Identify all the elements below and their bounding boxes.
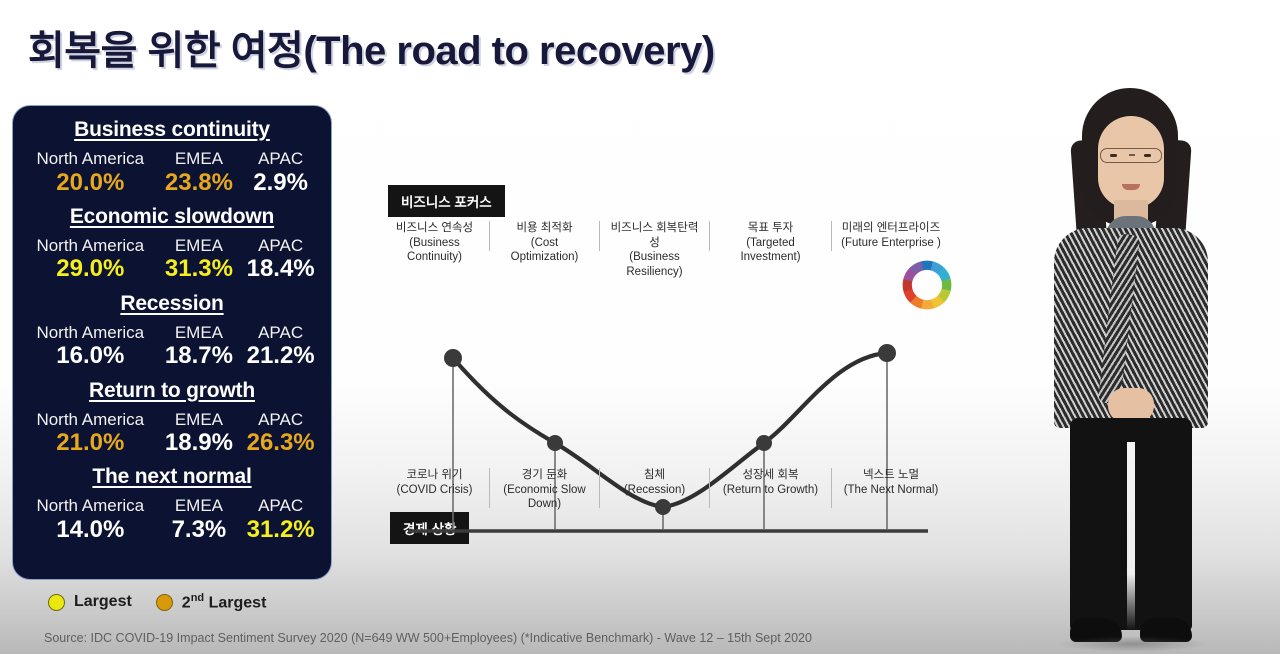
stat-value: 31.2% [240, 516, 321, 544]
bottom-label-covid-crisis: 코로나 위기 (COVID Crisis) [380, 468, 490, 508]
stat-col-emea: EMEA 23.8% [158, 149, 241, 197]
stat-col-apac: APAC 31.2% [240, 496, 321, 544]
stat-value: 14.0% [23, 516, 158, 544]
stat-region-label: APAC [240, 236, 321, 256]
stat-heading: Economic slowdown [23, 205, 321, 229]
data-point-return-to-growth [756, 435, 772, 451]
stat-value: 18.9% [158, 429, 241, 457]
stat-value: 18.7% [158, 342, 241, 370]
stat-col-apac: APAC 26.3% [240, 410, 321, 458]
bottom-label-return-to-growth: 성장세 회복 (Return to Growth) [710, 468, 832, 508]
stat-region-label: North America [23, 410, 158, 430]
stat-row: North America 29.0% EMEA 31.3% APAC 18.4… [23, 236, 321, 284]
source-note: Source: IDC COVID-19 Impact Sentiment Su… [44, 631, 812, 645]
stat-col-north-america: North America 21.0% [23, 410, 158, 458]
stat-region-label: APAC [240, 149, 321, 169]
legend-item-second-largest: 2nd Largest [156, 592, 267, 612]
stat-region-label: EMEA [158, 410, 241, 430]
stat-col-apac: APAC 2.9% [240, 149, 321, 197]
stat-col-north-america: North America 16.0% [23, 323, 158, 371]
stat-block-business-continuity: Business continuity North America 20.0% … [23, 118, 321, 197]
stat-value: 21.2% [240, 342, 321, 370]
stat-value: 7.3% [158, 516, 241, 544]
stat-block-economic-slowdown: Economic slowdown North America 29.0% EM… [23, 205, 321, 284]
legend-label: Largest [74, 593, 132, 611]
top-label-cost-optimization: 비용 최적화 (Cost Optimization) [490, 221, 600, 251]
stat-col-north-america: North America 20.0% [23, 149, 158, 197]
stat-block-recession: Recession North America 16.0% EMEA 18.7%… [23, 292, 321, 371]
stat-heading: Business continuity [23, 118, 321, 142]
stat-region-label: North America [23, 236, 158, 256]
data-point-economic-slowdown [547, 435, 563, 451]
future-enterprise-ring-icon [898, 256, 956, 314]
recovery-curve-chart: 비즈니스 포커스 경제 상황 비즈니스 연속성 (Business Contin… [380, 175, 980, 555]
stat-region-label: North America [23, 496, 158, 516]
presenter-hands [1108, 388, 1154, 422]
stat-region-label: EMEA [158, 323, 241, 343]
glasses-icon [1100, 148, 1162, 163]
presenter-video-overlay [980, 0, 1280, 654]
stat-value: 16.0% [23, 342, 158, 370]
stat-value: 20.0% [23, 169, 158, 197]
stat-value: 21.0% [23, 429, 158, 457]
stat-block-return-to-growth: Return to growth North America 21.0% EME… [23, 379, 321, 458]
stat-value: 29.0% [23, 255, 158, 283]
stat-row: North America 14.0% EMEA 7.3% APAC 31.2% [23, 496, 321, 544]
legend-label: 2nd Largest [182, 592, 267, 612]
stat-block-the-next-normal: The next normal North America 14.0% EMEA… [23, 465, 321, 544]
stat-col-apac: APAC 18.4% [240, 236, 321, 284]
stat-region-label: APAC [240, 410, 321, 430]
stat-heading: Recession [23, 292, 321, 316]
stat-row: North America 21.0% EMEA 18.9% APAC 26.3… [23, 410, 321, 458]
stat-region-label: EMEA [158, 496, 241, 516]
stat-value: 2.9% [240, 169, 321, 197]
stats-panel: Business continuity North America 20.0% … [12, 105, 332, 580]
legend: Largest 2nd Largest [48, 592, 266, 612]
circle-icon [156, 594, 173, 611]
bottom-label-the-next-normal: 넥스트 노멀 (The Next Normal) [832, 468, 950, 508]
presenter-shadow [1058, 636, 1208, 652]
stat-col-emea: EMEA 18.7% [158, 323, 241, 371]
presenter-pants [1070, 418, 1192, 630]
presenter-figure [1030, 88, 1230, 654]
stat-row: North America 16.0% EMEA 18.7% APAC 21.2… [23, 323, 321, 371]
page-title: 회복을 위한 여정(The road to recovery) [28, 18, 715, 76]
stat-col-north-america: North America 14.0% [23, 496, 158, 544]
stat-value: 31.3% [158, 255, 241, 283]
stat-value: 18.4% [240, 255, 321, 283]
stat-region-label: APAC [240, 323, 321, 343]
top-label-future-enterprise: 미래의 엔터프라이즈 (Future Enterprise ) [832, 221, 950, 251]
stat-value: 23.8% [158, 169, 241, 197]
stat-col-emea: EMEA 7.3% [158, 496, 241, 544]
stat-region-label: EMEA [158, 149, 241, 169]
top-label-business-resiliency: 비즈니스 회복탄력성 (Business Resiliency) [600, 221, 710, 251]
stat-region-label: North America [23, 323, 158, 343]
top-label-targeted-investment: 목표 투자 (Targeted Investment) [710, 221, 832, 251]
bottom-label-recession: 침체 (Recession) [600, 468, 710, 508]
stat-region-label: APAC [240, 496, 321, 516]
stat-value: 26.3% [240, 429, 321, 457]
legend-item-largest: Largest [48, 593, 132, 611]
data-point-the-next-normal [878, 344, 896, 362]
stat-col-emea: EMEA 18.9% [158, 410, 241, 458]
stat-row: North America 20.0% EMEA 23.8% APAC 2.9% [23, 149, 321, 197]
chip-business-focus: 비즈니스 포커스 [388, 185, 505, 217]
recovery-curve-svg [380, 253, 980, 553]
top-label-business-continuity: 비즈니스 연속성 (Business Continuity) [380, 221, 490, 251]
stat-col-emea: EMEA 31.3% [158, 236, 241, 284]
business-focus-labels: 비즈니스 연속성 (Business Continuity) 비용 최적화 (C… [380, 221, 980, 251]
stat-col-apac: APAC 21.2% [240, 323, 321, 371]
bottom-label-economic-slow-down: 경기 둔화 (Economic Slow Down) [490, 468, 600, 508]
stat-col-north-america: North America 29.0% [23, 236, 158, 284]
stat-heading: The next normal [23, 465, 321, 489]
stat-region-label: EMEA [158, 236, 241, 256]
circle-icon [48, 594, 65, 611]
stat-region-label: North America [23, 149, 158, 169]
economic-status-labels: 코로나 위기 (COVID Crisis) 경기 둔화 (Economic Sl… [380, 468, 980, 508]
data-point-covid-crisis [444, 349, 462, 367]
stat-heading: Return to growth [23, 379, 321, 403]
